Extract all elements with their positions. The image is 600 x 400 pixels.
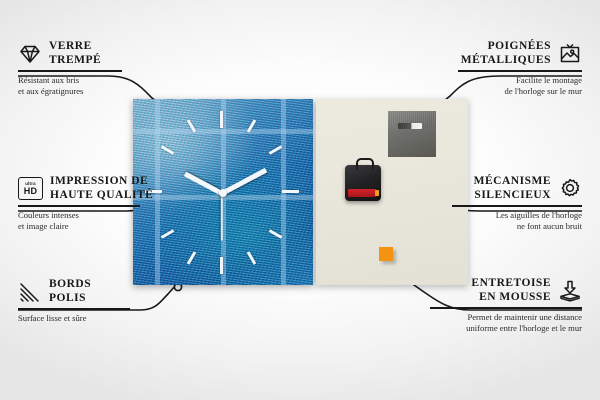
feature-title-line: EN MOUSSE [471,291,551,305]
diamond-icon [18,42,42,66]
clock-tick [220,111,223,128]
foam-spacer-icon [558,279,582,303]
ultra-hd-icon: ultra HD [18,177,43,200]
feature-divider [18,205,140,206]
mechanism-hanging-loop [356,158,374,169]
feature-verre-trempe: VERRE TREMPÉ Résistant aux bris et aux é… [18,40,122,97]
metal-hanger-plate [388,111,436,157]
clock-second-hand [221,193,223,241]
clock-face [133,99,313,285]
feature-subtitle-line: uniforme entre l'horloge et le mur [430,323,582,334]
clock-tick [161,229,175,239]
feature-subtitle-line: Permet de maintenir une distance [430,312,582,323]
feature-subtitle-line: et image claire [18,221,153,232]
feature-title-line: POLIS [49,292,91,306]
clock-center-cap [219,189,227,197]
feature-divider [18,70,122,71]
feature-title-line: MÉTALLIQUES [461,54,551,68]
feature-title-line: BORDS [49,278,91,292]
feature-subtitle-line: ne font aucun bruit [452,221,582,232]
feature-title-line: VERRE [49,40,101,54]
feature-subtitle-line: Surface lisse et sûre [18,313,130,324]
feature-title-line: SILENCIEUX [474,189,551,203]
feature-entretoise-en-mousse: ENTRETOISE EN MOUSSE Permet de maintenir… [430,277,582,334]
foam-spacer [379,247,393,261]
feature-divider [430,307,582,308]
infographic-canvas: VERRE TREMPÉ Résistant aux bris et aux é… [0,0,600,400]
feature-divider [452,205,582,206]
feature-subtitle-line: Résistant aux bris [18,75,122,86]
feature-divider [458,70,582,71]
feature-title-line: POIGNÉES [461,40,551,54]
feature-impression-haute-qualite: ultra HD IMPRESSION DE HAUTE QUALITÉ Cou… [18,175,153,232]
feature-subtitle-line: Les aiguilles de l'horloge [452,210,582,221]
feature-poignees-metalliques: POIGNÉES MÉTALLIQUES Facilite le montage… [458,40,582,97]
clock-tick [247,251,257,265]
feature-title-line: ENTRETOISE [471,277,551,291]
feature-title-line: MÉCANISME [474,175,551,189]
feature-subtitle-line: et aux égratignures [18,86,122,97]
feature-mecanisme-silencieux: MÉCANISME SILENCIEUX Les aiguilles de l'… [452,175,582,232]
feature-subtitle-line: Facilite le montage [458,75,582,86]
product-image [133,99,468,285]
feature-divider [18,308,130,309]
feature-title-line: HAUTE QUALITÉ [50,189,153,203]
feature-subtitle-line: de l'horloge sur le mur [458,86,582,97]
battery [348,189,376,197]
ultra-hd-icon-main-label: HD [24,187,38,196]
clock-back [316,99,468,285]
feature-bords-polis: BORDS POLIS Surface lisse et sûre [18,278,130,324]
picture-hanger-icon [558,42,582,66]
clock-hour-hand [184,172,223,196]
clock-tick [282,190,299,193]
clock-tick [220,257,223,274]
gear-icon [558,177,582,201]
feature-subtitle-line: Couleurs intenses [18,210,153,221]
polished-edge-icon [18,280,42,304]
feature-title-line: IMPRESSION DE [50,175,153,189]
feature-title-line: TREMPÉ [49,54,101,68]
clock-tick [187,251,197,265]
hanger-keyhole-slot [398,123,422,129]
clock-minute-hand [221,168,267,196]
clock-mechanism [345,165,381,201]
clock-tick [161,145,175,155]
